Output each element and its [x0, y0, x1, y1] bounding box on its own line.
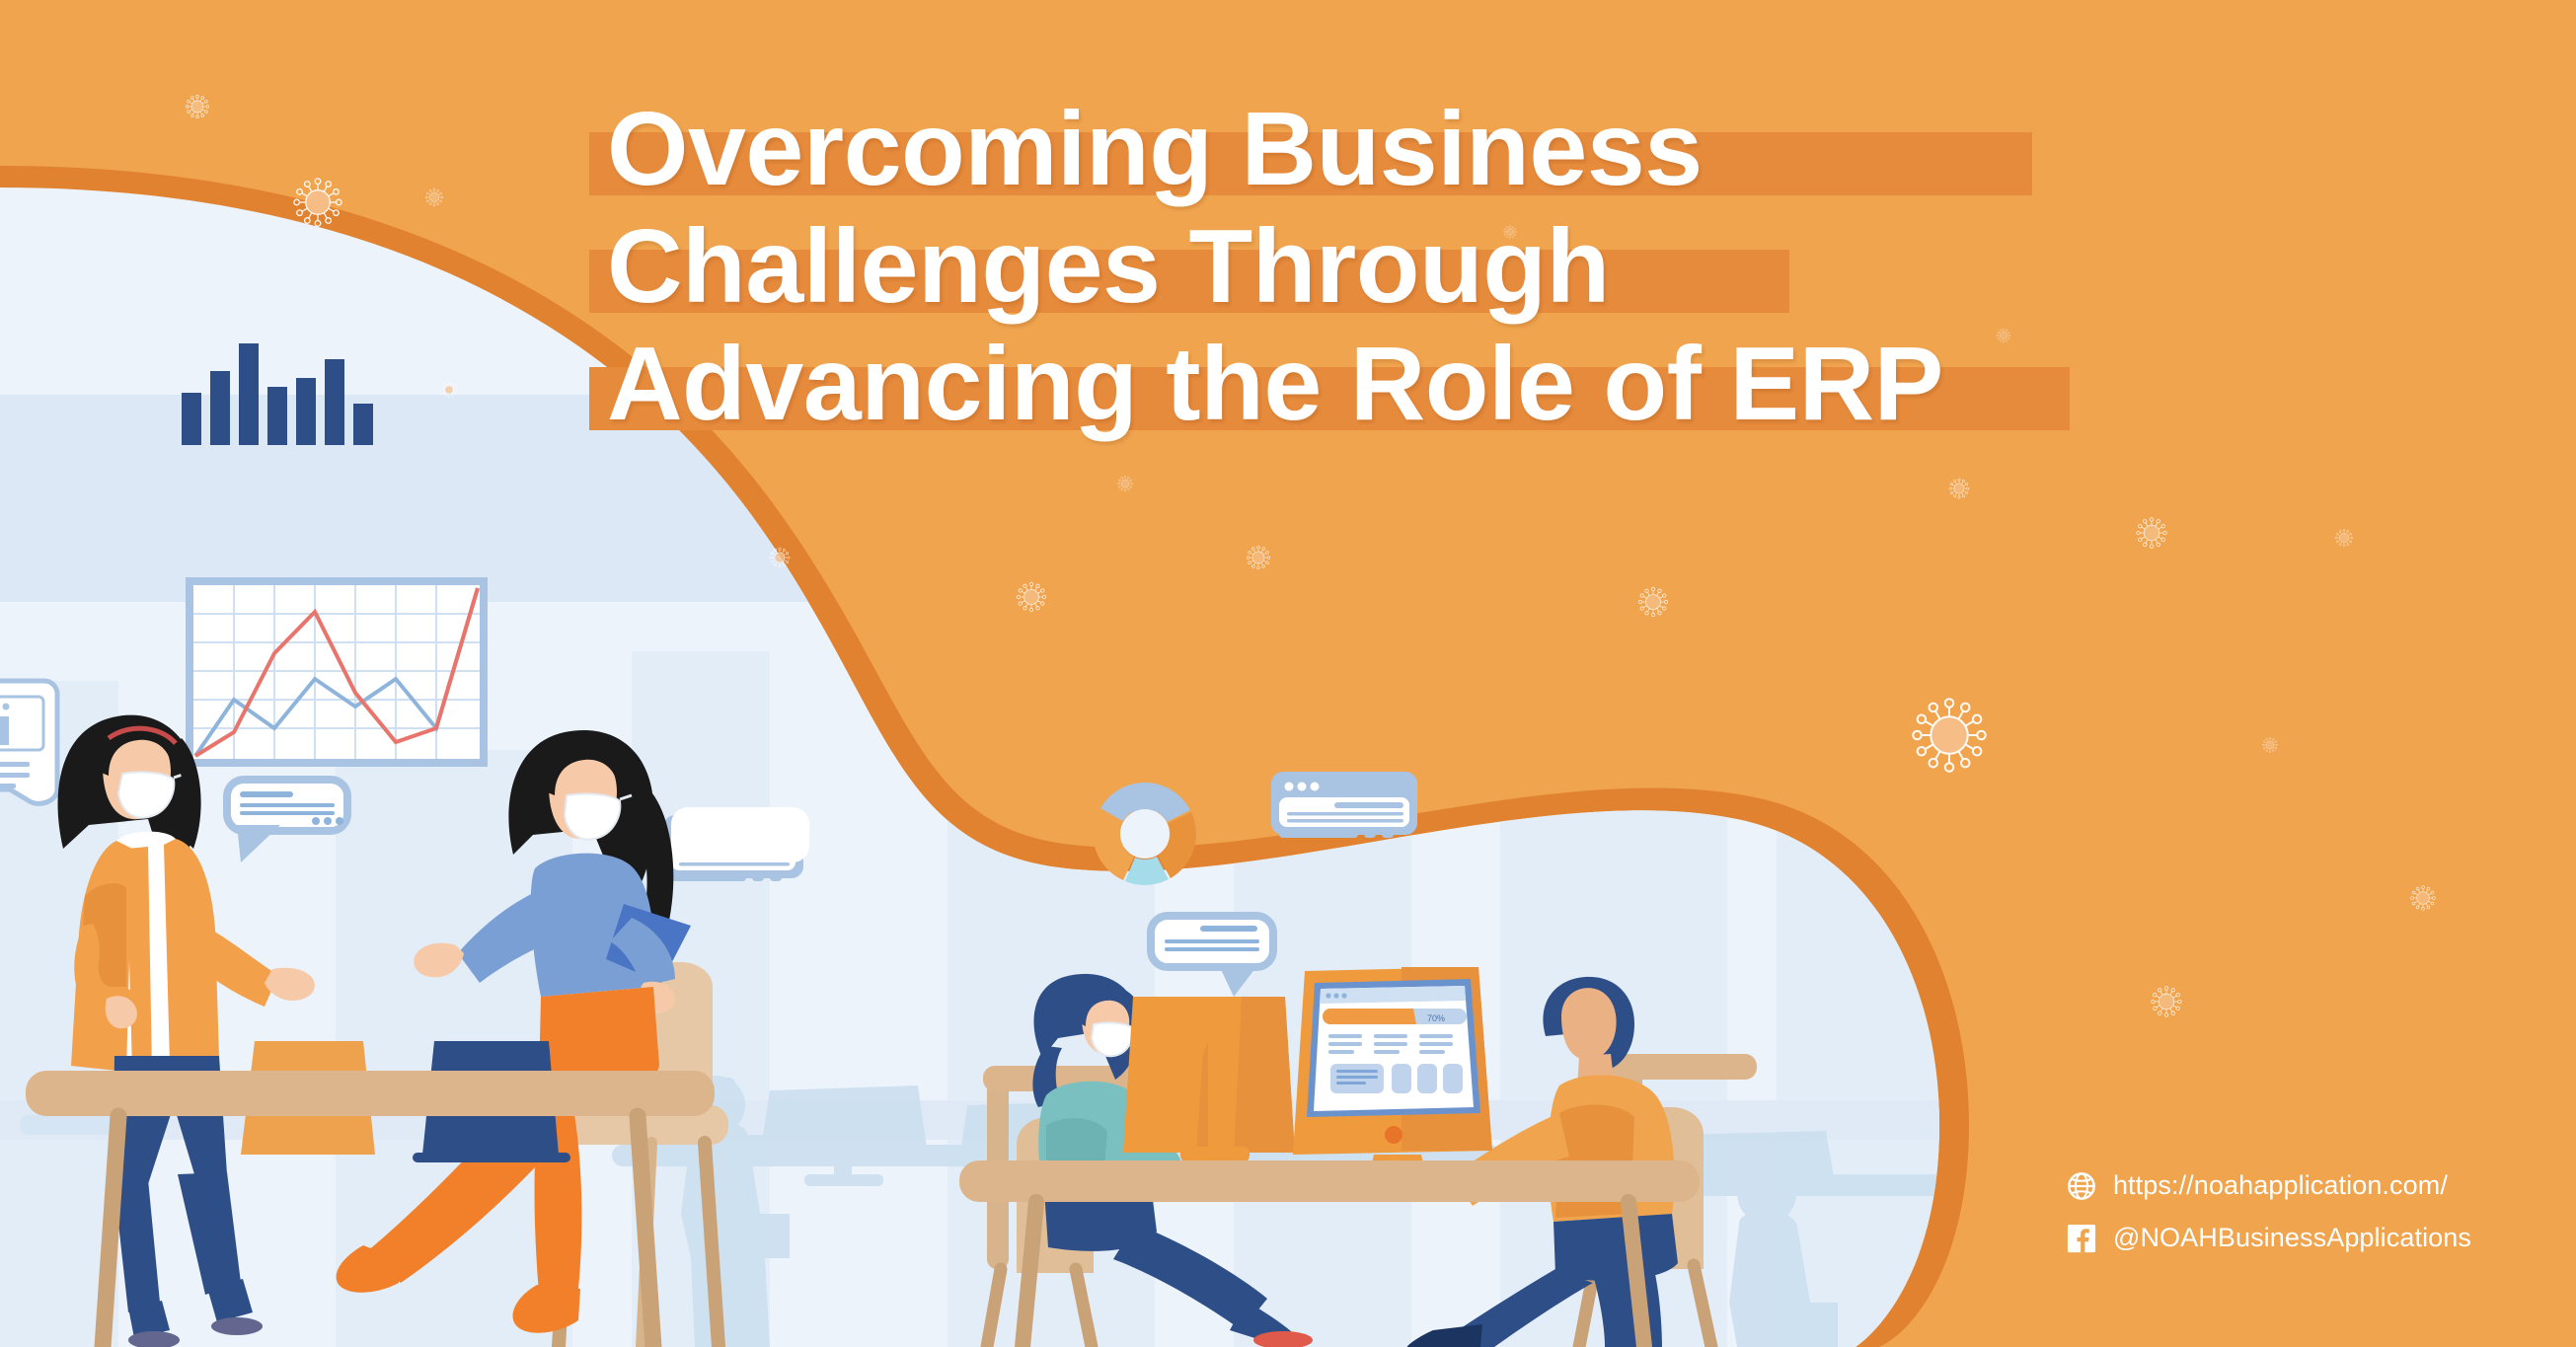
title-line-2-text: Challenges Through: [607, 208, 1610, 325]
title-line-3: Advancing the Role of ERP: [607, 326, 2147, 443]
globe-icon: [2067, 1171, 2096, 1201]
facebook-icon: [2067, 1224, 2096, 1253]
title-line-1: Overcoming Business: [607, 91, 2147, 208]
website-url: https://noahapplication.com/: [2113, 1170, 2448, 1201]
website-link[interactable]: https://noahapplication.com/: [2067, 1170, 2471, 1201]
facebook-link[interactable]: @NOAHBusinessApplications: [2067, 1223, 2471, 1253]
facebook-handle: @NOAHBusinessApplications: [2113, 1223, 2471, 1253]
contact-block: https://noahapplication.com/ @NOAHBusine…: [2067, 1170, 2471, 1253]
banner-title: Overcoming Business Challenges Through A…: [607, 91, 2147, 443]
title-line-2: Challenges Through: [607, 208, 2147, 326]
erp-marketing-banner: 70%: [0, 0, 2576, 1347]
title-line-3-text: Advancing the Role of ERP: [607, 326, 1943, 442]
title-line-1-text: Overcoming Business: [607, 91, 1703, 207]
